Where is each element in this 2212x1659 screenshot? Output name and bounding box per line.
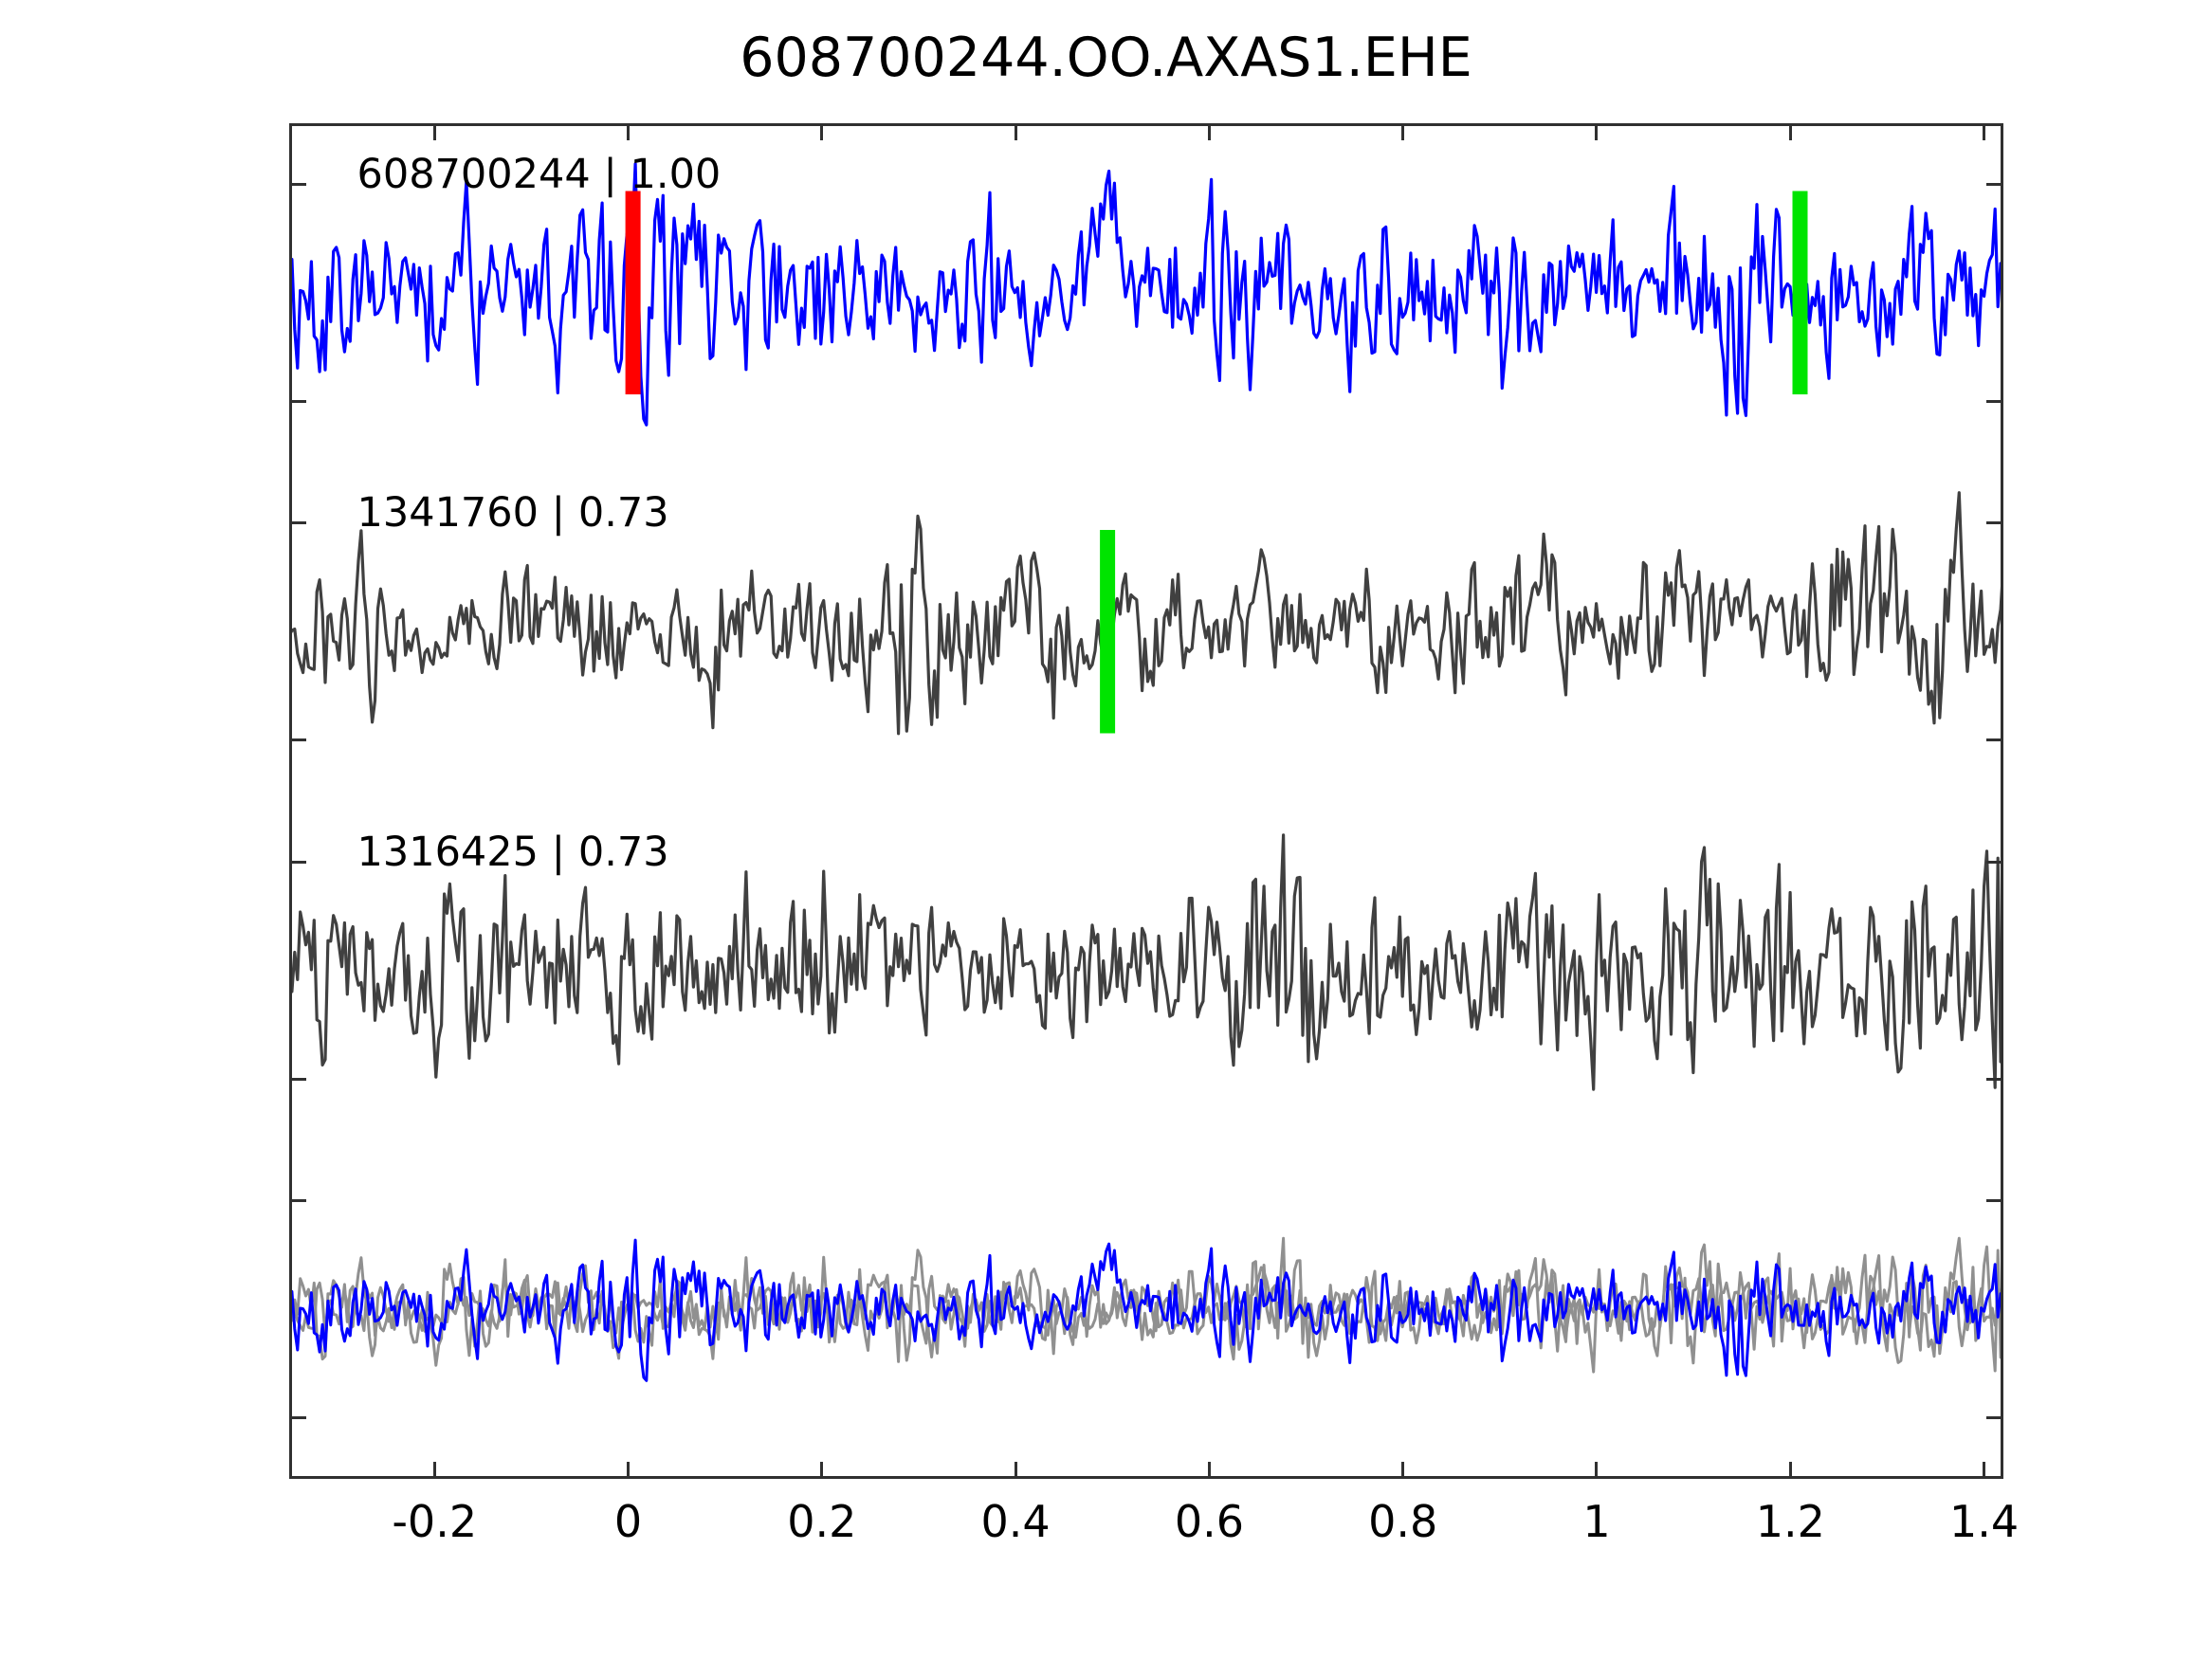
y-tick-mark bbox=[1986, 400, 2003, 403]
plot-area bbox=[289, 123, 2003, 1479]
y-tick-mark bbox=[289, 861, 306, 864]
y-tick-mark bbox=[289, 400, 306, 403]
x-tick-mark bbox=[820, 123, 823, 140]
x-tick-mark bbox=[1789, 1462, 1792, 1479]
y-tick-mark bbox=[289, 1416, 306, 1419]
x-axis-tick-labels: -0.200.20.40.60.811.21.4 bbox=[289, 1496, 2003, 1572]
x-tick-mark bbox=[1015, 123, 1017, 140]
y-tick-mark bbox=[1986, 861, 2003, 864]
x-tick-label: 1.2 bbox=[1756, 1496, 1825, 1547]
y-tick-mark bbox=[289, 183, 306, 186]
x-tick-mark bbox=[627, 123, 630, 140]
x-tick-label: 0 bbox=[614, 1496, 642, 1547]
y-tick-mark bbox=[289, 521, 306, 524]
y-tick-mark bbox=[1986, 1199, 2003, 1202]
trace-label-1341760: 1341760 | 0.73 bbox=[357, 489, 669, 537]
x-tick-mark bbox=[1595, 1462, 1598, 1479]
x-tick-mark bbox=[433, 1462, 436, 1479]
y-tick-mark bbox=[1986, 183, 2003, 186]
x-tick-label: 1 bbox=[1582, 1496, 1610, 1547]
x-tick-mark bbox=[1208, 1462, 1211, 1479]
x-tick-mark bbox=[433, 123, 436, 140]
y-tick-mark bbox=[289, 738, 306, 741]
waveform-canvas bbox=[289, 123, 2003, 1479]
y-tick-mark bbox=[1986, 1416, 2003, 1419]
waveform-figure: 608700244.OO.AXAS1.EHE 608700244 | 1.001… bbox=[0, 0, 2212, 1659]
trace-label-608700244: 608700244 | 1.00 bbox=[357, 151, 722, 198]
x-tick-label: 0.8 bbox=[1368, 1496, 1437, 1547]
template-pick-marker-608700244[interactable] bbox=[626, 191, 641, 395]
x-tick-mark bbox=[1208, 123, 1211, 140]
y-tick-mark bbox=[289, 1199, 306, 1202]
x-tick-label: 0.4 bbox=[981, 1496, 1051, 1547]
x-tick-mark bbox=[1015, 1462, 1017, 1479]
y-tick-mark bbox=[1986, 521, 2003, 524]
trace-line-608700244 bbox=[289, 164, 2003, 425]
x-tick-mark bbox=[1789, 123, 1792, 140]
x-tick-mark bbox=[627, 1462, 630, 1479]
x-tick-mark bbox=[820, 1462, 823, 1479]
detection-pick-marker-1341760[interactable] bbox=[1100, 530, 1115, 734]
trace-label-1316425: 1316425 | 0.73 bbox=[357, 829, 669, 876]
x-tick-mark bbox=[1983, 1462, 1985, 1479]
x-tick-mark bbox=[1401, 1462, 1404, 1479]
page-title: 608700244.OO.AXAS1.EHE bbox=[0, 27, 2212, 89]
x-tick-label: 1.4 bbox=[1949, 1496, 2019, 1547]
y-tick-mark bbox=[289, 1078, 306, 1081]
y-tick-mark bbox=[1986, 1078, 2003, 1081]
x-tick-label: -0.2 bbox=[392, 1496, 477, 1547]
x-tick-mark bbox=[1401, 123, 1404, 140]
x-tick-mark bbox=[1983, 123, 1985, 140]
y-tick-mark bbox=[1986, 738, 2003, 741]
x-tick-label: 0.2 bbox=[787, 1496, 856, 1547]
x-tick-mark bbox=[1595, 123, 1598, 140]
detection-pick-marker-608700244[interactable] bbox=[1793, 191, 1808, 395]
x-tick-label: 0.6 bbox=[1175, 1496, 1244, 1547]
